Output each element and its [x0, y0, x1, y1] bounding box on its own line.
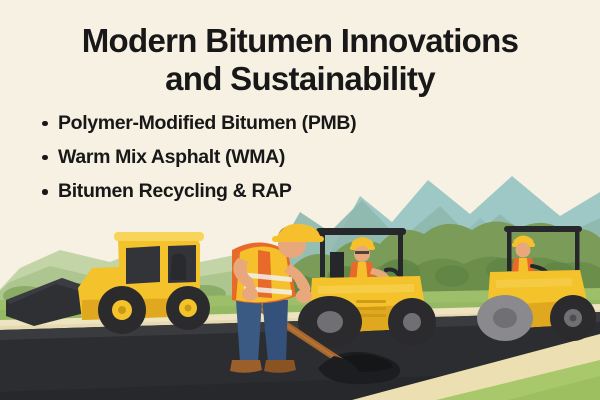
scene-illustration [0, 0, 600, 400]
poster: Modern Bitumen Innovations and Sustainab… [0, 0, 600, 400]
